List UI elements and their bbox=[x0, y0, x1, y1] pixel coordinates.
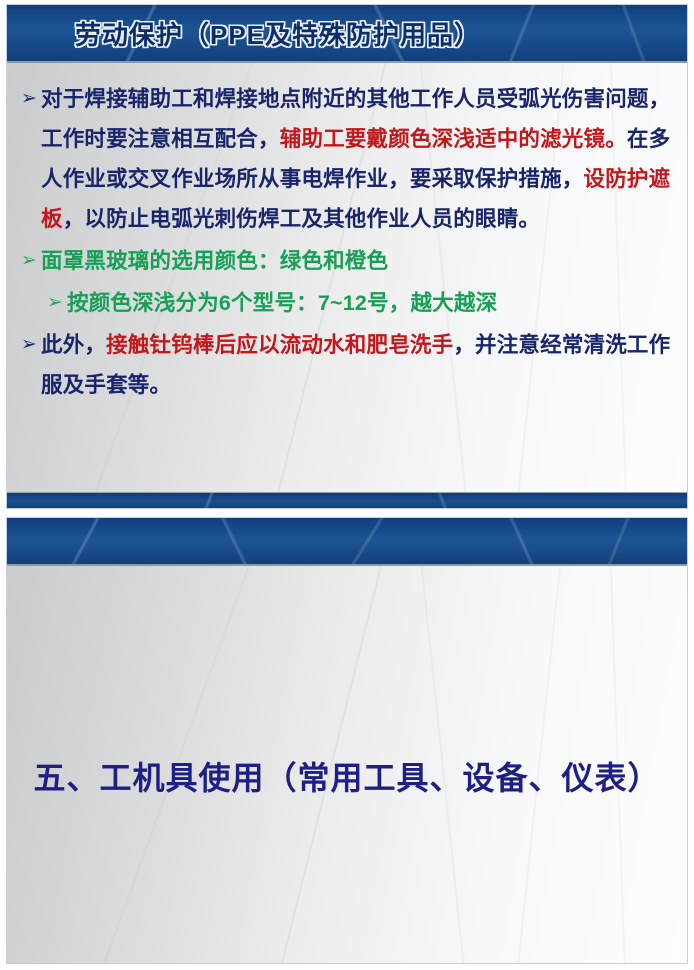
bullet-list: ➢对于焊接辅助工和焊接地点附近的其他工作人员受弧光伤害问题，工作时要注意相互配合… bbox=[17, 79, 673, 405]
slide-1-title: 劳动保护（PPE及特殊防护用品） bbox=[75, 15, 481, 52]
slide-1-footer-bar bbox=[7, 492, 687, 508]
bullet-arrow-icon: ➢ bbox=[17, 241, 41, 281]
bullet-item: ➢面罩黑玻璃的选用颜色：绿色和橙色 bbox=[17, 241, 673, 281]
text-segment: 接触钍钨棒后应以流动水和肥皂洗手 bbox=[106, 333, 453, 357]
bullet-text: 按颜色深浅分为6个型号：7~12号，越大越深 bbox=[67, 283, 673, 323]
bullet-text: 此外，接触钍钨棒后应以流动水和肥皂洗手，并注意经常清洗工作服及手套等。 bbox=[41, 325, 673, 405]
bullet-arrow-icon: ➢ bbox=[17, 79, 41, 119]
bullet-arrow-icon: ➢ bbox=[17, 325, 41, 365]
slide-2-section-title: 五、工机具使用（常用工具、设备、仪表） bbox=[33, 753, 660, 799]
bullet-arrow-icon: ➢ bbox=[43, 283, 67, 323]
slide-2-header-band bbox=[7, 518, 687, 566]
text-segment: 辅助工要戴颜色深浅适中的滤光镜。 bbox=[280, 127, 627, 151]
bullet-text: 面罩黑玻璃的选用颜色：绿色和橙色 bbox=[41, 241, 673, 281]
text-segment: 面罩黑玻璃的选用颜色：绿色和橙色 bbox=[41, 249, 388, 273]
bullet-text: 对于焊接辅助工和焊接地点附近的其他工作人员受弧光伤害问题，工作时要注意相互配合，… bbox=[41, 79, 673, 239]
text-segment: ，以防止电弧光刺伤焊工及其他作业人员的眼睛。 bbox=[63, 207, 540, 231]
slide-1-body: ➢对于焊接辅助工和焊接地点附近的其他工作人员受弧光伤害问题，工作时要注意相互配合… bbox=[7, 63, 687, 488]
slide-deck: 劳动保护（PPE及特殊防护用品） ➢对于焊接辅助工和焊接地点附近的其他工作人员受… bbox=[0, 0, 694, 970]
bullet-item: ➢对于焊接辅助工和焊接地点附近的其他工作人员受弧光伤害问题，工作时要注意相互配合… bbox=[17, 79, 673, 239]
slide-1[interactable]: 劳动保护（PPE及特殊防护用品） ➢对于焊接辅助工和焊接地点附近的其他工作人员受… bbox=[6, 4, 688, 509]
slide-1-header-band: 劳动保护（PPE及特殊防护用品） bbox=[7, 5, 687, 63]
text-segment: 此外， bbox=[41, 333, 106, 357]
bullet-item: ➢按颜色深浅分为6个型号：7~12号，越大越深 bbox=[17, 283, 673, 323]
slide-2-body: 五、工机具使用（常用工具、设备、仪表） bbox=[7, 566, 687, 961]
text-segment: 按颜色深浅分为6个型号：7~12号，越大越深 bbox=[67, 291, 497, 315]
bullet-item: ➢此外，接触钍钨棒后应以流动水和肥皂洗手，并注意经常清洗工作服及手套等。 bbox=[17, 325, 673, 405]
slide-2[interactable]: 五、工机具使用（常用工具、设备、仪表） bbox=[6, 517, 688, 964]
